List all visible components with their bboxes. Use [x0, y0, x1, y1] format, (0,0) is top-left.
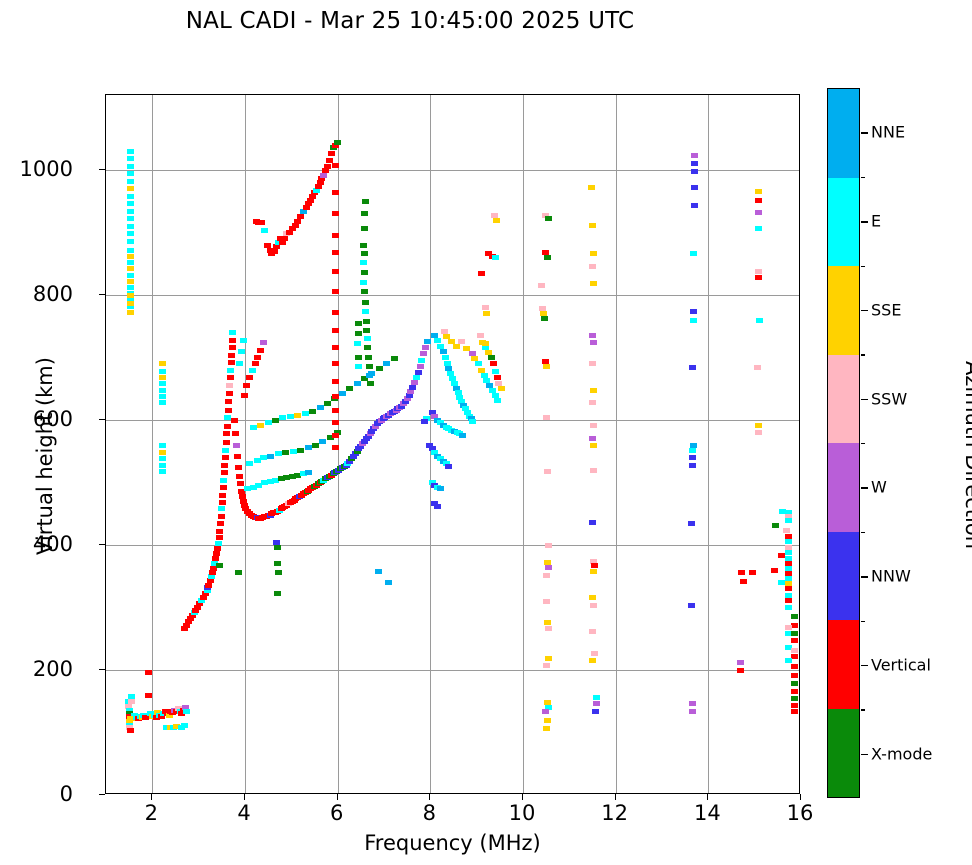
data-point [355, 355, 362, 360]
data-point [469, 419, 476, 424]
data-point [475, 361, 482, 366]
colorbar-label-sse: SSE [871, 300, 901, 319]
data-point [453, 344, 460, 349]
data-point [227, 375, 234, 380]
data-point [688, 603, 695, 608]
data-point [225, 408, 232, 413]
data-point [421, 419, 428, 424]
data-point [246, 461, 253, 466]
data-point [440, 349, 447, 354]
data-point [216, 529, 223, 534]
data-point [127, 293, 134, 298]
data-point [302, 411, 309, 416]
data-point [218, 506, 225, 511]
data-point [498, 386, 505, 391]
data-point [328, 151, 335, 156]
data-point [365, 355, 372, 360]
colorbar-label-nnw: NNW [871, 567, 911, 586]
data-point [690, 251, 697, 256]
data-point [360, 280, 367, 285]
colorbar-segment-nnw [828, 532, 859, 621]
colorbar [827, 88, 860, 798]
data-point [361, 270, 368, 275]
data-point [279, 415, 286, 420]
data-point [332, 445, 339, 450]
data-point [434, 504, 441, 509]
data-point [482, 305, 489, 310]
data-point [737, 668, 744, 673]
data-point [294, 413, 301, 418]
data-point [420, 351, 427, 356]
data-point [363, 328, 370, 333]
data-point [364, 336, 371, 341]
data-point [492, 255, 499, 260]
data-point [363, 319, 370, 324]
data-point [332, 361, 339, 366]
data-point [590, 281, 597, 286]
data-point [225, 399, 232, 404]
data-point [785, 539, 792, 544]
data-point [252, 361, 259, 366]
data-point [294, 219, 301, 224]
data-point [791, 703, 798, 708]
gridline-horizontal [106, 295, 799, 296]
x-axis-tick [522, 794, 523, 800]
data-point [590, 251, 597, 256]
data-point [265, 420, 272, 425]
data-point [458, 339, 465, 344]
data-point [237, 481, 244, 486]
data-point [159, 394, 166, 399]
data-point [755, 226, 762, 231]
data-point [297, 214, 304, 219]
data-point [364, 345, 371, 350]
data-point [591, 651, 598, 656]
data-point [541, 316, 548, 321]
data-point [127, 310, 134, 315]
data-point [691, 185, 698, 190]
data-point [589, 595, 596, 600]
colorbar-tick [861, 754, 868, 755]
data-point [260, 340, 267, 345]
x-axis-tick [615, 794, 616, 800]
data-point [222, 448, 229, 453]
data-point [127, 149, 134, 154]
data-point [309, 409, 316, 414]
data-point [145, 670, 152, 675]
data-point [332, 211, 339, 216]
colorbar-title: Azimuth Direction [961, 275, 972, 635]
data-point [282, 450, 289, 455]
x-axis-tick-label: 10 [509, 801, 536, 825]
data-point [181, 723, 188, 728]
data-point [297, 448, 304, 453]
y-axis-tick [99, 294, 105, 295]
data-point [127, 216, 134, 221]
colorbar-boundary-tick [861, 177, 865, 178]
data-point [159, 456, 166, 461]
data-point [218, 514, 225, 519]
data-point [250, 425, 257, 430]
data-point [590, 468, 597, 473]
data-point [320, 173, 327, 178]
data-point [226, 391, 233, 396]
data-point [213, 551, 220, 556]
colorbar-tick [861, 399, 868, 400]
y-axis-tick [99, 669, 105, 670]
data-point [355, 364, 362, 369]
data-point [228, 353, 235, 358]
x-axis-tick-label: 12 [601, 801, 628, 825]
gridline-vertical [245, 95, 246, 793]
data-point [346, 386, 353, 391]
data-point [332, 345, 339, 350]
plot-area [106, 95, 799, 793]
data-point [544, 718, 551, 723]
data-point [413, 375, 420, 380]
data-point [754, 365, 761, 370]
data-point [785, 586, 792, 591]
y-axis-tick [99, 794, 105, 795]
data-point [127, 179, 134, 184]
data-point [127, 248, 134, 253]
data-point [354, 381, 361, 386]
colorbar-segment-e [828, 178, 859, 267]
data-point [791, 623, 798, 628]
data-point [243, 383, 250, 388]
data-point [545, 656, 552, 661]
data-point [236, 361, 243, 366]
data-point [360, 260, 367, 265]
data-point [589, 223, 596, 228]
colorbar-segment-sse [828, 266, 859, 355]
colorbar-boundary-tick [861, 266, 865, 267]
data-point [355, 321, 362, 326]
y-axis-tick [99, 169, 105, 170]
data-point [159, 450, 166, 455]
data-point [785, 598, 792, 603]
data-point [589, 436, 596, 441]
data-point [332, 408, 339, 413]
data-point [229, 330, 236, 335]
data-point [482, 341, 489, 346]
data-point [235, 570, 242, 575]
data-point [478, 271, 485, 276]
data-point [261, 228, 268, 233]
y-axis-tick-label: 1000 [20, 157, 73, 181]
data-point [494, 398, 501, 403]
colorbar-label-e: E [871, 212, 881, 231]
data-point [791, 709, 798, 714]
data-point [361, 211, 368, 216]
data-point [543, 599, 550, 604]
data-point [367, 381, 374, 386]
data-point [229, 338, 236, 343]
data-point [785, 550, 792, 555]
data-point [690, 309, 697, 314]
data-point [127, 301, 134, 306]
data-point [220, 485, 227, 490]
data-point [249, 368, 256, 373]
data-point [417, 364, 424, 369]
data-point [362, 309, 369, 314]
data-point [791, 648, 798, 653]
data-point [543, 415, 550, 420]
data-point [791, 681, 798, 686]
data-point [415, 370, 422, 375]
data-point [483, 311, 490, 316]
data-point [362, 199, 369, 204]
colorbar-tick [861, 487, 868, 488]
colorbar-segment-w [828, 443, 859, 532]
x-axis-label: Frequency (MHz) [105, 831, 800, 855]
data-point [223, 431, 230, 436]
data-point [127, 239, 134, 244]
data-point [332, 394, 339, 399]
data-point [355, 331, 362, 336]
data-point [287, 414, 294, 419]
data-point [755, 269, 762, 274]
data-point [281, 236, 288, 241]
data-point [127, 266, 134, 271]
data-point [543, 364, 550, 369]
data-point [290, 449, 297, 454]
x-axis-tick-label: 2 [145, 801, 158, 825]
data-point [783, 528, 790, 533]
data-point [127, 231, 134, 236]
x-axis-tick [151, 794, 152, 800]
data-point [305, 470, 312, 475]
y-axis-tick [99, 419, 105, 420]
data-point [590, 569, 597, 574]
data-point [689, 709, 696, 714]
data-point [791, 638, 798, 643]
data-point [361, 289, 368, 294]
data-point [755, 210, 762, 215]
data-point [772, 523, 779, 528]
data-point [545, 626, 552, 631]
data-point [159, 361, 166, 366]
colorbar-tick [861, 132, 868, 133]
data-point [791, 696, 798, 701]
data-point [332, 379, 339, 384]
data-point [127, 186, 134, 191]
data-point [791, 689, 798, 694]
data-point [183, 709, 190, 714]
data-point [127, 209, 134, 214]
data-point [545, 216, 552, 221]
data-point [159, 469, 166, 474]
data-point [691, 161, 698, 166]
data-point [689, 463, 696, 468]
data-point [219, 493, 226, 498]
colorbar-label-x-mode: X-mode [871, 744, 932, 763]
data-point [445, 464, 452, 469]
y-axis-label: Virtual height (km) [33, 206, 57, 706]
data-point [223, 440, 230, 445]
data-point [434, 338, 441, 343]
data-point [159, 375, 166, 380]
x-axis-tick [707, 794, 708, 800]
data-point [305, 445, 312, 450]
data-point [271, 249, 278, 254]
data-point [543, 726, 550, 731]
data-point [319, 439, 326, 444]
colorbar-boundary-tick [861, 709, 865, 710]
data-point [590, 443, 597, 448]
colorbar-label-vertical: Vertical [871, 655, 931, 674]
data-point [691, 169, 698, 174]
data-point [545, 565, 552, 570]
data-point [490, 361, 497, 366]
data-point [214, 546, 221, 551]
data-point [332, 420, 339, 425]
data-point [159, 463, 166, 468]
colorbar-tick [861, 576, 868, 577]
data-point [545, 543, 552, 548]
x-axis-tick [337, 794, 338, 800]
data-point [354, 341, 361, 346]
data-point [229, 345, 236, 350]
data-point [324, 164, 331, 169]
data-point [224, 424, 231, 429]
gridline-horizontal [106, 420, 799, 421]
colorbar-boundary-tick [861, 621, 865, 622]
y-axis-tick-label: 0 [60, 782, 73, 806]
data-point [221, 463, 228, 468]
data-point [755, 423, 762, 428]
data-point [324, 401, 331, 406]
data-point [224, 415, 231, 420]
data-point [127, 171, 134, 176]
data-point [791, 673, 798, 678]
data-point [332, 289, 339, 294]
data-point [366, 364, 373, 369]
colorbar-label-ssw: SSW [871, 389, 907, 408]
colorbar-boundary-tick [861, 443, 865, 444]
data-point [238, 349, 245, 354]
data-point [785, 518, 792, 523]
data-point [590, 340, 597, 345]
data-point [590, 388, 597, 393]
data-point [159, 369, 166, 374]
data-point [588, 185, 595, 190]
data-point [332, 190, 339, 195]
data-point [127, 273, 134, 278]
data-point [219, 500, 226, 505]
data-point [589, 333, 596, 338]
x-axis-tick-label: 6 [330, 801, 343, 825]
data-point [755, 430, 762, 435]
ionogram-figure: NAL CADI - Mar 25 10:45:00 2025 UTC 2468… [0, 0, 972, 865]
data-point [317, 405, 324, 410]
colorbar-label-nne: NNE [871, 123, 905, 142]
data-point [589, 629, 596, 634]
data-point [332, 233, 339, 238]
data-point [361, 251, 368, 256]
data-point [690, 318, 697, 323]
data-point [538, 283, 545, 288]
gridline-vertical [616, 95, 617, 793]
data-point [332, 433, 339, 438]
data-point [785, 625, 792, 630]
plot-frame [105, 94, 800, 794]
data-point [542, 709, 549, 714]
data-point [409, 385, 416, 390]
data-point [257, 423, 264, 428]
data-point [332, 328, 339, 333]
data-point [232, 431, 239, 436]
data-point [361, 226, 368, 231]
data-point [339, 391, 346, 396]
data-point [212, 556, 219, 561]
data-point [216, 535, 223, 540]
data-point [260, 455, 267, 460]
data-point [231, 418, 238, 423]
y-axis-tick [99, 544, 105, 545]
data-point [543, 663, 550, 668]
data-point [749, 570, 756, 575]
data-point [267, 454, 274, 459]
data-point [593, 695, 600, 700]
data-point [127, 156, 134, 161]
data-point [424, 339, 431, 344]
data-point [755, 198, 762, 203]
data-point [791, 654, 798, 659]
x-axis-tick-label: 8 [423, 801, 436, 825]
colorbar-segment-x-mode [828, 709, 859, 798]
data-point [756, 318, 763, 323]
data-point [159, 381, 166, 386]
data-point [360, 243, 367, 248]
data-point [159, 443, 166, 448]
x-axis-tick-label: 16 [787, 801, 814, 825]
data-point [145, 693, 152, 698]
data-point [127, 279, 134, 284]
gridline-vertical [338, 95, 339, 793]
data-point [272, 418, 279, 423]
x-axis-tick [800, 794, 801, 800]
data-point [755, 275, 762, 280]
data-point [332, 163, 339, 168]
data-point [312, 443, 319, 448]
data-point [275, 451, 282, 456]
colorbar-boundary-tick [861, 532, 865, 533]
data-point [227, 368, 234, 373]
data-point [689, 365, 696, 370]
data-point [334, 140, 341, 145]
x-axis-tick [244, 794, 245, 800]
data-point [222, 455, 229, 460]
data-point [385, 580, 392, 585]
data-point [589, 264, 596, 269]
data-point [127, 285, 134, 290]
data-point [221, 470, 228, 475]
colorbar-tick [861, 310, 868, 311]
data-point [391, 356, 398, 361]
data-point [737, 660, 744, 665]
data-point [236, 474, 243, 479]
data-point [418, 358, 425, 363]
data-point [274, 591, 281, 596]
data-point [234, 454, 241, 459]
colorbar-boundary-tick [861, 354, 865, 355]
data-point [127, 164, 134, 169]
data-point [689, 701, 696, 706]
colorbar-tick [861, 665, 868, 666]
data-point [689, 455, 696, 460]
x-axis-tick-label: 14 [694, 801, 721, 825]
